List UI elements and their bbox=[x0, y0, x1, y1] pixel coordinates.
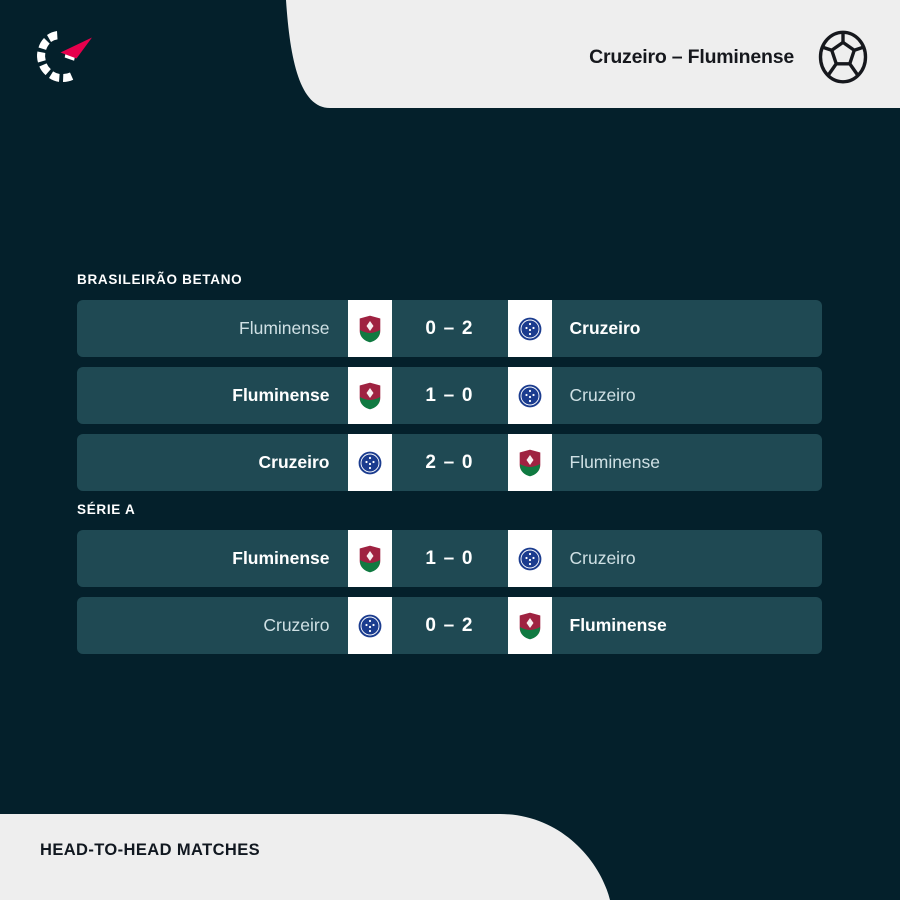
home-crest-cell bbox=[348, 434, 392, 491]
match-score: 0 – 2 bbox=[392, 318, 508, 340]
home-team-name: Cruzeiro bbox=[77, 615, 348, 636]
fluminense-crest bbox=[357, 381, 383, 411]
match-row[interactable]: Fluminense0 – 2Cruzeiro bbox=[77, 300, 822, 357]
away-team-name: Cruzeiro bbox=[552, 318, 823, 339]
home-crest-cell bbox=[348, 300, 392, 357]
content-area: BRASILEIRÃO BETANOFluminense0 – 2Cruzeir… bbox=[0, 114, 900, 800]
match-row[interactable]: Fluminense1 – 0Cruzeiro bbox=[77, 530, 822, 587]
fluminense-crest bbox=[517, 611, 543, 641]
match-section: SÉRIE AFluminense1 – 0CruzeiroCruzeiro0 … bbox=[0, 502, 900, 654]
away-team-name: Fluminense bbox=[552, 452, 823, 473]
away-team-name: Fluminense bbox=[552, 615, 823, 636]
home-crest-cell bbox=[348, 367, 392, 424]
cruzeiro-crest bbox=[357, 611, 383, 641]
cruzeiro-crest bbox=[517, 314, 543, 344]
home-team-name: Cruzeiro bbox=[77, 452, 348, 473]
fluminense-crest bbox=[357, 314, 383, 344]
cruzeiro-crest bbox=[517, 544, 543, 574]
match-score: 0 – 2 bbox=[392, 615, 508, 637]
match-row[interactable]: Cruzeiro2 – 0Fluminense bbox=[77, 434, 822, 491]
away-team-name: Cruzeiro bbox=[552, 548, 823, 569]
fluminense-crest bbox=[517, 448, 543, 478]
match-score: 2 – 0 bbox=[392, 452, 508, 474]
away-crest-cell bbox=[508, 300, 552, 357]
fluminense-crest bbox=[357, 544, 383, 574]
home-crest-cell bbox=[348, 530, 392, 587]
page-title: Cruzeiro – Fluminense bbox=[589, 46, 794, 69]
soccer-ball-icon bbox=[816, 30, 870, 84]
cruzeiro-crest bbox=[517, 381, 543, 411]
header-right-group: Cruzeiro – Fluminense bbox=[589, 0, 870, 114]
section-label: BRASILEIRÃO BETANO bbox=[77, 272, 900, 287]
match-row[interactable]: Cruzeiro0 – 2Fluminense bbox=[77, 597, 822, 654]
footer-label: HEAD-TO-HEAD MATCHES bbox=[40, 800, 260, 900]
home-team-name: Fluminense bbox=[77, 385, 348, 406]
section-label: SÉRIE A bbox=[77, 502, 900, 517]
onefootball-logo-icon bbox=[30, 25, 96, 87]
cruzeiro-crest bbox=[357, 448, 383, 478]
home-team-name: Fluminense bbox=[77, 318, 348, 339]
away-crest-cell bbox=[508, 530, 552, 587]
match-row[interactable]: Fluminense1 – 0Cruzeiro bbox=[77, 367, 822, 424]
away-team-name: Cruzeiro bbox=[552, 385, 823, 406]
match-sections: BRASILEIRÃO BETANOFluminense0 – 2Cruzeir… bbox=[0, 272, 900, 664]
away-crest-cell bbox=[508, 367, 552, 424]
away-crest-cell bbox=[508, 434, 552, 491]
match-score: 1 – 0 bbox=[392, 385, 508, 407]
match-section: BRASILEIRÃO BETANOFluminense0 – 2Cruzeir… bbox=[0, 272, 900, 491]
away-crest-cell bbox=[508, 597, 552, 654]
screenshot-root: Cruzeiro – Fluminense BRASILEIRÃO BETANO… bbox=[0, 0, 900, 900]
home-crest-cell bbox=[348, 597, 392, 654]
home-team-name: Fluminense bbox=[77, 548, 348, 569]
match-score: 1 – 0 bbox=[392, 548, 508, 570]
